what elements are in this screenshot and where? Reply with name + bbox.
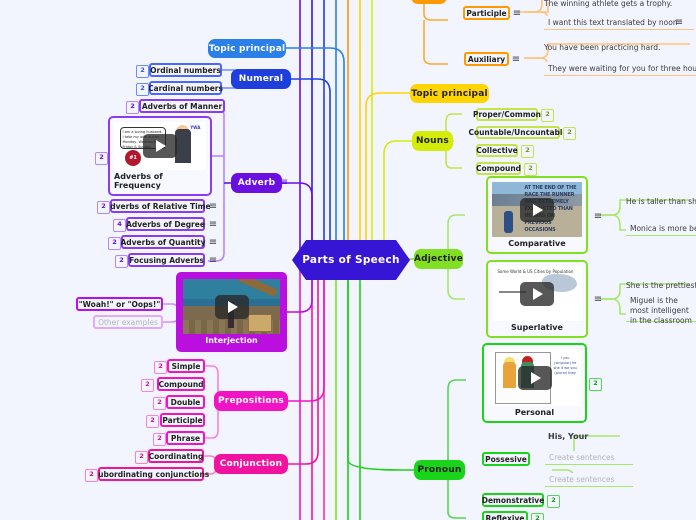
badge-cardinal-numbers: 2 xyxy=(136,83,149,96)
leaf-preposition-participle[interactable]: Participle xyxy=(160,413,205,427)
note-icon-comparative[interactable]: ≡ xyxy=(593,212,603,222)
video-thumbnail-comparative: AT THE END OF THE RACE THE RUNNER WAS EX… xyxy=(492,182,582,237)
note-icon-verb-participle[interactable]: ≡ xyxy=(512,9,522,19)
badge-collective: 2 xyxy=(521,145,534,158)
badge-preposition-participle: 2 xyxy=(146,415,159,428)
video-thumbnail-personal: I you (singular) he she it we you (plura… xyxy=(488,349,581,406)
badge-adverbs-of-degree: 4 xyxy=(113,219,126,232)
badge-demonstrative: 2 xyxy=(547,495,560,508)
play-icon[interactable] xyxy=(215,295,249,319)
leaf-subordinating-conjunctions[interactable]: Subordinating conjunctions xyxy=(98,467,204,481)
note-icon-adverbs-of-degree[interactable]: ≡ xyxy=(208,220,218,230)
badge-coordinating: 2 xyxy=(135,451,148,464)
badge-reflexive: 2 xyxy=(531,513,544,520)
thumb-pronoun-list: I you (singular) he she it we you (plura… xyxy=(552,356,578,376)
leaf-ordinal-numbers[interactable]: Ordinal numbers xyxy=(149,63,222,77)
mindmap-canvas: Parts of Speech Topic principal Numeral … xyxy=(0,0,696,520)
badge-countable-uncountable: 2 xyxy=(563,127,576,140)
note-icon-adverb[interactable]: ≡ xyxy=(279,178,289,188)
leaf-coordinating[interactable]: Coordinating xyxy=(148,449,204,463)
badge-preposition-simple: 2 xyxy=(154,361,167,374)
badge-adverbs-of-relative-time: 2 xyxy=(97,201,110,214)
example-comparative-1: He is taller than she is xyxy=(626,195,696,207)
leaf-reflexive[interactable]: Reflexive xyxy=(482,511,528,520)
leaf-preposition-simple[interactable]: Simple xyxy=(167,359,205,373)
example-possesive-1[interactable]: Create sentences xyxy=(545,451,633,465)
thumb-man-body xyxy=(175,129,191,163)
branch-adjective[interactable]: Adjective xyxy=(414,249,463,269)
leaf-cardinal-numbers[interactable]: Cardinal numbers xyxy=(149,81,222,95)
leaf-verb-auxiliary[interactable]: Auxiliary xyxy=(464,52,509,66)
branch-numeral[interactable]: Numeral xyxy=(231,69,291,89)
badge-preposition-phrase: 2 xyxy=(153,433,166,446)
thumb-crate xyxy=(248,314,272,332)
thumb-person1-body xyxy=(503,362,516,388)
leaf-woah-oops[interactable]: "Woah!" or "Oops!" xyxy=(76,297,163,311)
example-superlative-2: Miguel is the most intelligent in the cl… xyxy=(626,300,696,322)
video-caption-adverbs-of-frequency: Adverbs of Frequency xyxy=(114,170,206,190)
leaf-adverbs-of-relative-time[interactable]: Adverbs of Relative Time xyxy=(110,199,205,213)
leaf-adverbs-of-degree[interactable]: Adverbs of Degree xyxy=(126,217,205,231)
note-icon-verb-auxiliary[interactable]: ≡ xyxy=(511,55,521,65)
center-node-parts-of-speech[interactable]: Parts of Speech xyxy=(292,238,410,282)
video-caption-interjection: Interjection xyxy=(205,334,258,345)
leaf-preposition-compound[interactable]: Compound xyxy=(157,377,205,391)
leaf-focusing-adverbs[interactable]: Focusing Adverbs xyxy=(128,253,205,267)
play-icon[interactable] xyxy=(143,134,177,158)
example-participle-2: I want this text translated by noon xyxy=(544,16,694,30)
heading-possesive-examples: His, Your xyxy=(548,430,588,442)
video-card-adverbs-of-frequency[interactable]: I am a loving husband. I take my wife ou… xyxy=(108,116,212,196)
badge-adverbs-of-frequency: 2 xyxy=(95,152,108,165)
video-thumbnail-superlative: Some World & US Cities by Population xyxy=(492,266,582,321)
topic-principal-yellow[interactable]: Topic principal xyxy=(410,84,489,103)
badge-proper-common: 2 xyxy=(541,109,554,122)
badge-adverbs-of-manner: 2 xyxy=(126,101,139,114)
video-caption-superlative: Superlative xyxy=(511,321,563,332)
branch-adverb[interactable]: Adverb xyxy=(231,173,282,193)
leaf-proper-common[interactable]: Proper/Common xyxy=(476,108,538,121)
badge-preposition-compound: 2 xyxy=(141,379,154,392)
leaf-collective[interactable]: Collective xyxy=(476,144,518,157)
badge-preposition-double: 2 xyxy=(153,397,166,410)
badge-adverbs-of-quantity: 2 xyxy=(108,237,121,250)
video-caption-personal: Personal xyxy=(515,406,554,417)
leaf-verb-participle[interactable]: Participle xyxy=(463,6,510,20)
play-icon[interactable] xyxy=(520,282,554,306)
note-icon-adverbs-of-relative-time[interactable]: ≡ xyxy=(208,202,218,212)
note-icon-superlative[interactable]: ≡ xyxy=(593,295,603,305)
thumb-runner xyxy=(504,211,513,233)
leaf-adverbs-of-quantity[interactable]: Adverbs of Quantity xyxy=(121,235,205,249)
topic-principal-blue[interactable]: Topic principal xyxy=(208,39,286,58)
note-icon-focusing-adverbs[interactable]: ≡ xyxy=(208,256,218,266)
leaf-preposition-double[interactable]: Double xyxy=(166,395,205,409)
branch-pronoun[interactable]: Pronoun xyxy=(414,460,465,480)
video-card-comparative[interactable]: AT THE END OF THE RACE THE RUNNER WAS EX… xyxy=(486,176,588,254)
thumb-logo: YWA xyxy=(190,125,200,130)
leaf-demonstrative[interactable]: Demonstrative xyxy=(482,493,544,507)
example-comparative-2: Monica is more beautiful xyxy=(626,222,696,236)
thumb-rosette: #1 xyxy=(125,150,141,166)
branch-conjunction[interactable]: Conjunction xyxy=(214,454,288,474)
branch-prepositions[interactable]: Prepositions xyxy=(214,391,288,411)
video-caption-comparative: Comparative xyxy=(508,237,565,248)
note-icon-adverbs-of-quantity[interactable]: ≡ xyxy=(208,238,218,248)
video-card-interjection[interactable]: Interjection xyxy=(176,272,287,352)
leaf-adverbs-of-manner[interactable]: Adverbs of Manner xyxy=(139,99,225,113)
badge-subordinating-conjunctions: 2 xyxy=(85,469,98,482)
example-possesive-2[interactable]: Create sentences xyxy=(545,473,633,487)
example-participle-1: The winning athlete gets a trophy. xyxy=(544,0,672,9)
leaf-countable-uncountable[interactable]: Countable/Uncountable xyxy=(476,126,560,139)
example-auxiliary-1: You have been practicing hard. xyxy=(544,41,660,53)
example-superlative-1: She is the prettiest xyxy=(626,279,696,291)
badge-ordinal-numbers: 2 xyxy=(136,65,149,78)
leaf-compound-noun[interactable]: Compound xyxy=(476,162,521,175)
video-card-superlative[interactable]: Some World & US Cities by Population Sup… xyxy=(486,260,588,338)
leaf-preposition-phrase[interactable]: Phrase xyxy=(166,431,205,445)
example-auxiliary-2: They were waiting for you for three hour… xyxy=(544,62,696,76)
leaf-other-examples[interactable]: Other examples xyxy=(93,315,163,329)
center-node-label: Parts of Speech xyxy=(292,238,410,282)
note-icon-example-participle-2[interactable]: ≡ xyxy=(674,18,684,28)
branch-verb[interactable] xyxy=(411,0,447,4)
play-icon[interactable] xyxy=(518,366,552,390)
branch-nouns[interactable]: Nouns xyxy=(412,131,453,151)
leaf-possesive[interactable]: Possesive xyxy=(482,452,530,466)
video-card-personal[interactable]: I you (singular) he she it we you (plura… xyxy=(482,343,587,423)
video-thumbnail-adverbs-of-frequency: I am a loving husband. I take my wife ou… xyxy=(114,122,206,170)
badge-compound-noun: 2 xyxy=(524,163,537,176)
badge-personal: 2 xyxy=(589,378,602,391)
badge-focusing-adverbs: 2 xyxy=(115,255,128,268)
play-icon[interactable] xyxy=(520,198,554,222)
video-thumbnail-interjection xyxy=(183,279,280,334)
